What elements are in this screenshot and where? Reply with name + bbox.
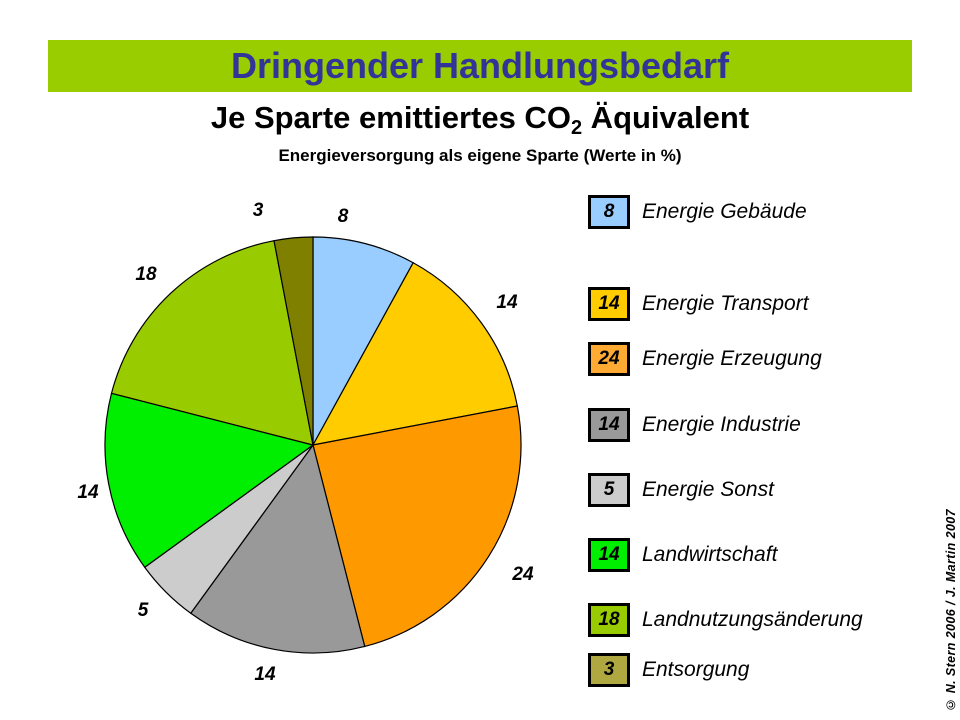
legend-label: Energie Industrie [642, 413, 801, 437]
chart-title: Je Sparte emittiertes CO2 Äquivalent [0, 100, 960, 136]
legend-swatch: 14 [588, 538, 630, 572]
pie-chart: 8142414514183 [60, 180, 580, 700]
legend-label: Energie Gebäude [642, 200, 807, 224]
legend-item[interactable]: 24Energie Erzeugung [588, 340, 822, 378]
slide-title: Dringender Handlungsbedarf [48, 45, 912, 87]
pie-slice-group [105, 237, 521, 653]
chart-title-part-2: Äquivalent [582, 100, 749, 135]
pie-value-label: 8 [338, 206, 349, 227]
legend-item[interactable]: 5Energie Sonst [588, 471, 774, 509]
legend-label: Landwirtschaft [642, 543, 777, 567]
pie-value-label: 14 [496, 292, 518, 313]
legend-swatch: 3 [588, 653, 630, 687]
chart-title-subscript: 2 [571, 117, 582, 139]
legend-swatch: 14 [588, 287, 630, 321]
pie-value-label: 5 [138, 600, 149, 621]
legend-item[interactable]: 14Landwirtschaft [588, 536, 777, 574]
legend-label: Landnutzungsänderung [642, 608, 863, 632]
legend-item[interactable]: 14Energie Transport [588, 285, 809, 323]
pie-value-label: 3 [253, 200, 264, 221]
legend-swatch: 5 [588, 473, 630, 507]
legend-swatch: 18 [588, 603, 630, 637]
legend-label: Entsorgung [642, 658, 749, 682]
legend-label: Energie Erzeugung [642, 347, 822, 371]
pie-value-label: 24 [511, 564, 534, 585]
legend-label: Energie Transport [642, 292, 809, 316]
legend-item[interactable]: 18Landnutzungsänderung [588, 601, 863, 639]
legend-label: Energie Sonst [642, 478, 774, 502]
pie-value-label: 14 [254, 664, 276, 685]
legend-swatch: 14 [588, 408, 630, 442]
legend-item[interactable]: 3Entsorgung [588, 651, 749, 689]
copyright-notice: © N. Stern 2006 / J. Martin 2007 [944, 509, 958, 712]
chart-subtitle: Energieversorgung als eigene Sparte (Wer… [0, 146, 960, 166]
pie-chart-svg: 8142414514183 [60, 180, 580, 700]
legend-swatch: 24 [588, 342, 630, 376]
slide-title-banner: Dringender Handlungsbedarf [48, 40, 912, 92]
legend-swatch: 8 [588, 195, 630, 229]
legend-item[interactable]: 8Energie Gebäude [588, 193, 807, 231]
chart-legend: 8Energie Gebäude14Energie Transport24Ene… [588, 193, 918, 703]
pie-value-label: 18 [135, 264, 157, 285]
legend-item[interactable]: 14Energie Industrie [588, 406, 801, 444]
chart-title-part-1: Je Sparte emittiertes CO [211, 100, 571, 135]
pie-value-label: 14 [77, 482, 99, 503]
